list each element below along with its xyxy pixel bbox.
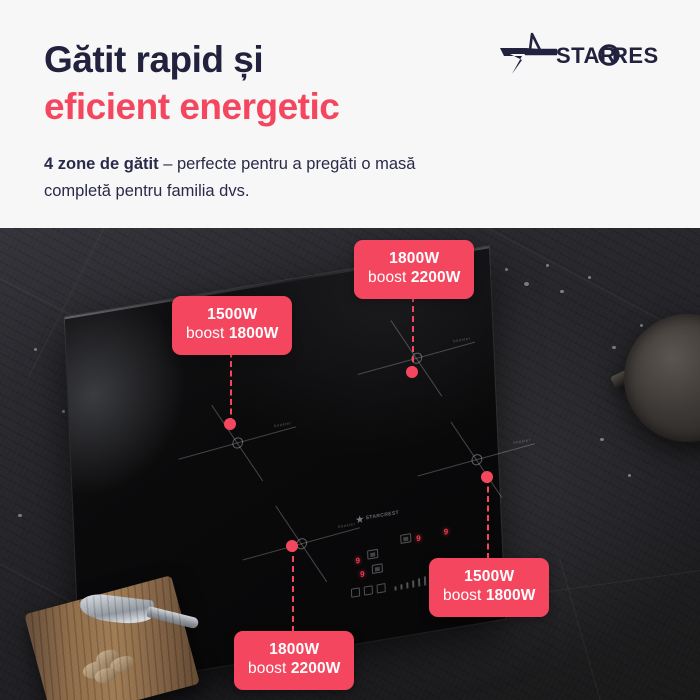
callout-connector-top-right — [412, 286, 414, 372]
surface-speckle — [546, 264, 549, 267]
zone-touch-key[interactable] — [372, 563, 383, 574]
lock-key[interactable] — [351, 587, 360, 598]
surface-speckle — [640, 324, 643, 327]
surface-speckle — [34, 348, 37, 351]
zone-tag: booster — [453, 336, 471, 344]
callout-dot-bottom-left — [286, 540, 298, 552]
surface-speckle — [62, 410, 65, 413]
callout-boost: boost 1800W — [443, 587, 535, 606]
starcrest-logo-icon: STAR REST — [496, 31, 658, 77]
knife-blade — [78, 592, 155, 627]
zone-tag: booster — [274, 420, 292, 428]
svg-text:REST: REST — [612, 43, 658, 68]
surface-speckle — [505, 268, 508, 271]
brand-logo: STAR REST — [496, 31, 658, 77]
callout-dot-top-right — [406, 366, 418, 378]
surface-speckle — [612, 346, 616, 349]
zone-display-value: 9 — [355, 556, 360, 566]
callout-badge-bottom-right: 1500W boost 1800W — [429, 558, 549, 617]
subheadline: 4 zone de gătit – perfecte pentru a preg… — [44, 151, 484, 204]
callout-connector-bottom-left — [292, 546, 294, 632]
zone-display-value: 9 — [416, 534, 421, 544]
zone-touch-key[interactable] — [400, 533, 411, 544]
header-section: Gătit rapid și eficient energetic 4 zone… — [0, 0, 700, 228]
callout-badge-bottom-left: 1800W boost 2200W — [234, 631, 354, 690]
callout-badge-top-left: 1500W boost 1800W — [172, 296, 292, 355]
hob-brand-text: STARCREST — [366, 510, 400, 522]
surface-speckle — [524, 282, 529, 286]
headline-line-2: eficient energetic — [44, 83, 474, 130]
callout-badge-top-right: 1800W boost 2200W — [354, 240, 474, 299]
subheadline-strong: 4 zone de gătit — [44, 155, 159, 173]
zone-tag: booster — [338, 521, 356, 529]
callout-power: 1800W — [368, 250, 460, 269]
zone-touch-key[interactable] — [367, 549, 378, 560]
surface-speckle — [600, 438, 604, 441]
surface-speckle — [588, 276, 591, 279]
callout-dot-top-left — [224, 418, 236, 430]
callout-power: 1800W — [248, 641, 340, 660]
page-title: Gătit rapid și eficient energetic — [44, 36, 474, 131]
zone-center-mark — [232, 436, 243, 449]
headline-line-1: Gătit rapid și — [44, 36, 474, 83]
callout-power: 1500W — [186, 306, 278, 325]
cooking-zone-top-left: booster — [160, 355, 315, 531]
callout-connector-bottom-right — [487, 477, 489, 559]
promo-banner: Gătit rapid și eficient energetic 4 zone… — [0, 0, 700, 700]
timer-key[interactable] — [364, 585, 373, 596]
hob-brand-mark: STARCREST — [356, 509, 400, 524]
zone-display-value: 9 — [444, 527, 449, 537]
surface-speckle — [560, 290, 564, 293]
product-photo: booster booster booster booster — [0, 228, 700, 700]
callout-dot-bottom-right — [481, 471, 493, 483]
surface-speckle — [628, 474, 631, 477]
callout-boost: boost 2200W — [248, 660, 340, 679]
zone-center-mark — [471, 453, 482, 466]
ginger-root — [79, 643, 142, 689]
knife-handle — [146, 606, 199, 629]
callout-boost: boost 1800W — [186, 325, 278, 344]
callout-boost: boost 2200W — [368, 269, 460, 288]
star-icon — [356, 515, 364, 524]
zone-display-value: 9 — [360, 569, 365, 579]
callout-power: 1500W — [443, 568, 535, 587]
boost-key[interactable] — [377, 583, 386, 594]
surface-speckle — [18, 514, 22, 517]
